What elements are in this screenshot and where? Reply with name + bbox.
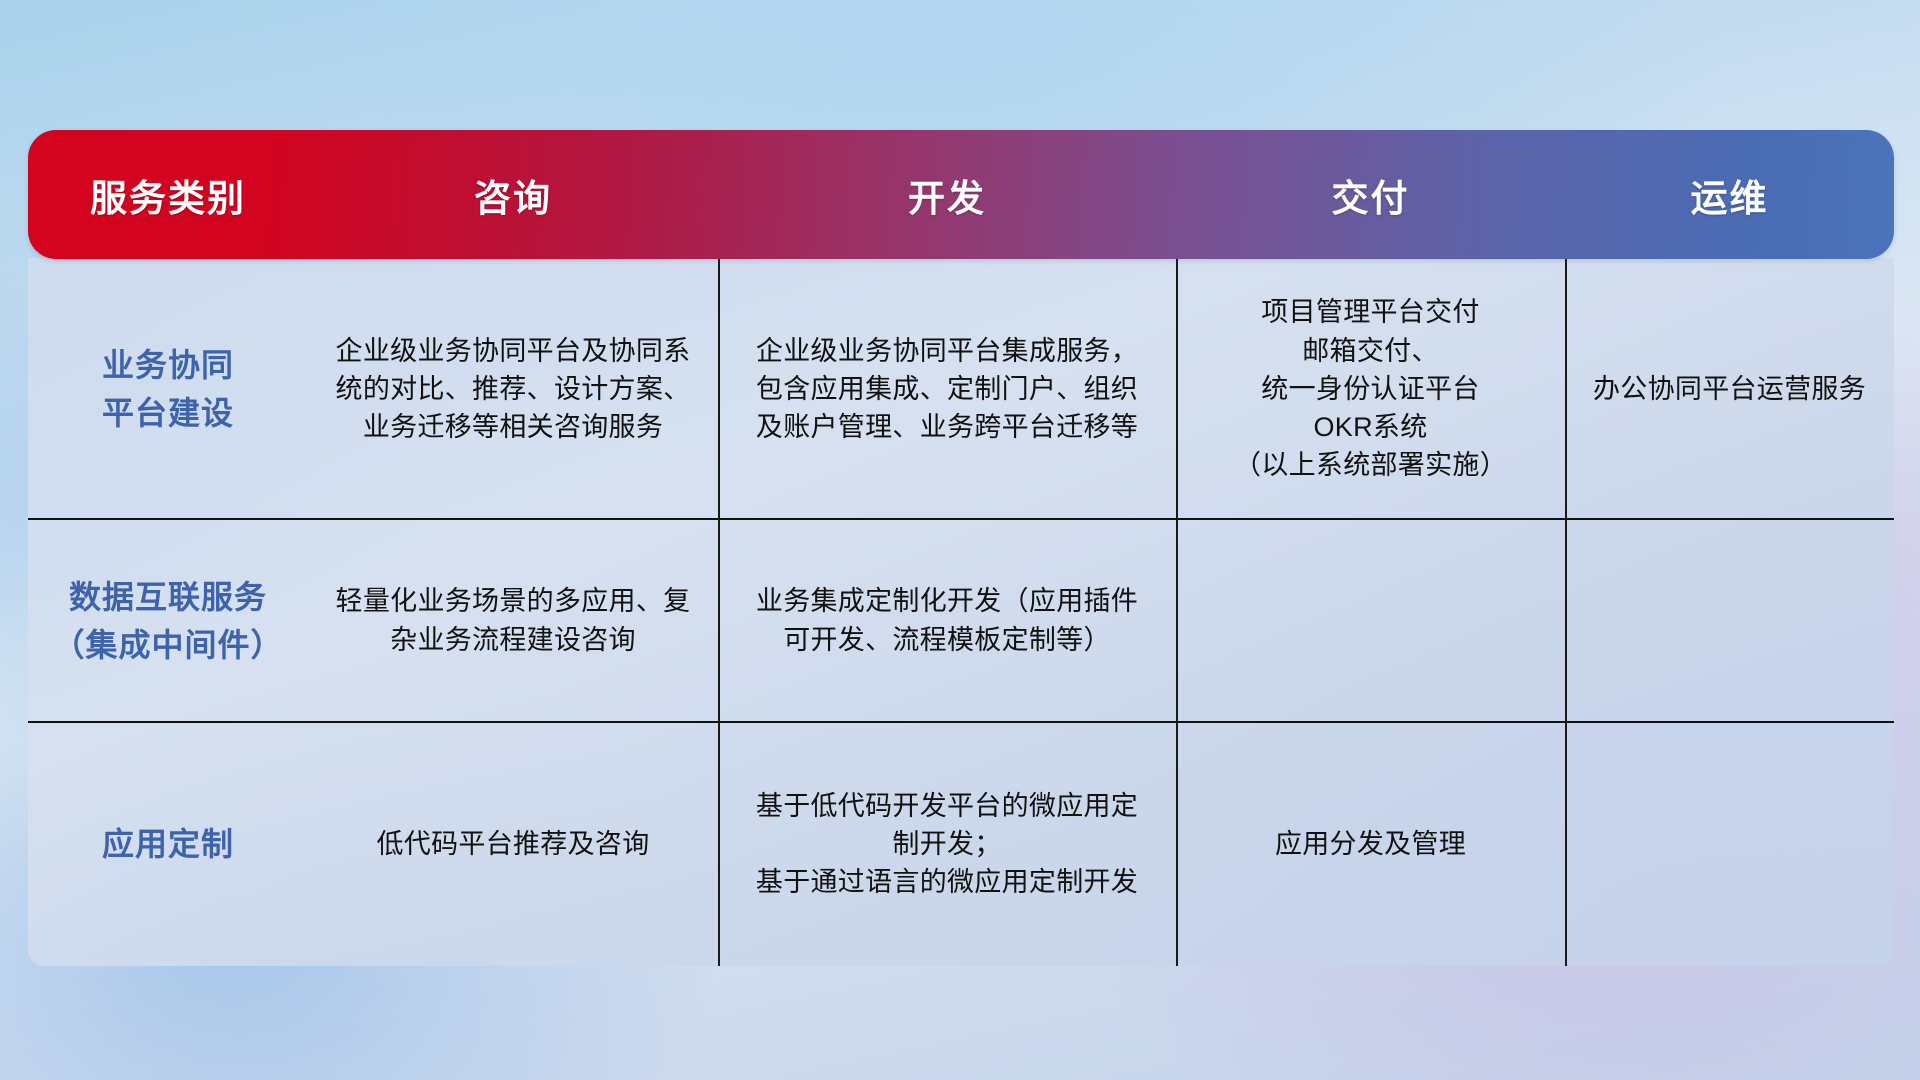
column-header-delivery: 交付 xyxy=(1176,168,1565,222)
cell-consulting: 低代码平台推荐及咨询 xyxy=(308,722,718,966)
cell-delivery: 项目管理平台交付 邮箱交付、 统一身份认证平台 OKR系统 （以上系统部署实施） xyxy=(1176,259,1565,519)
row-divider-2 xyxy=(28,721,1894,723)
cell-development: 基于低代码开发平台的微应用定 制开发； 基于通过语言的微应用定制开发 xyxy=(718,722,1176,966)
cell-operations xyxy=(1565,519,1894,722)
table-row: 应用定制 低代码平台推荐及咨询 基于低代码开发平台的微应用定 制开发； 基于通过… xyxy=(28,722,1894,966)
row-divider-1 xyxy=(28,518,1894,520)
row-category-cell: 业务协同 平台建设 xyxy=(28,259,308,519)
service-matrix-table: 服务类别 咨询 开发 交付 运维 业务协同 平台建设 企业级业务协同平台及协同系… xyxy=(28,130,1894,966)
column-header-operations: 运维 xyxy=(1565,168,1894,222)
row-category-cell: 应用定制 xyxy=(28,722,308,966)
table-row: 数据互联服务 （集成中间件） 轻量化业务场景的多应用、复 杂业务流程建设咨询 业… xyxy=(28,519,1894,722)
cell-consulting: 轻量化业务场景的多应用、复 杂业务流程建设咨询 xyxy=(308,519,718,722)
column-divider-1 xyxy=(718,259,720,966)
row-category-cell: 数据互联服务 （集成中间件） xyxy=(28,519,308,722)
cell-operations: 办公协同平台运营服务 xyxy=(1565,259,1894,519)
column-divider-2 xyxy=(1176,259,1178,966)
cell-consulting: 企业级业务协同平台及协同系 统的对比、推荐、设计方案、 业务迁移等相关咨询服务 xyxy=(308,259,718,519)
cell-operations xyxy=(1565,722,1894,966)
cell-development: 业务集成定制化开发（应用插件 可开发、流程模板定制等） xyxy=(718,519,1176,722)
cell-delivery xyxy=(1176,519,1565,722)
column-header-service-category: 服务类别 xyxy=(28,168,308,222)
table-body-grid: 业务协同 平台建设 企业级业务协同平台及协同系 统的对比、推荐、设计方案、 业务… xyxy=(28,259,1894,966)
table-header-row: 服务类别 咨询 开发 交付 运维 xyxy=(28,130,1894,259)
table-row: 业务协同 平台建设 企业级业务协同平台及协同系 统的对比、推荐、设计方案、 业务… xyxy=(28,259,1894,519)
column-header-consulting: 咨询 xyxy=(308,168,718,222)
cell-delivery: 应用分发及管理 xyxy=(1176,722,1565,966)
cell-development: 企业级业务协同平台集成服务， 包含应用集成、定制门户、组织 及账户管理、业务跨平… xyxy=(718,259,1176,519)
column-divider-3 xyxy=(1565,259,1567,966)
column-header-development: 开发 xyxy=(718,168,1176,222)
